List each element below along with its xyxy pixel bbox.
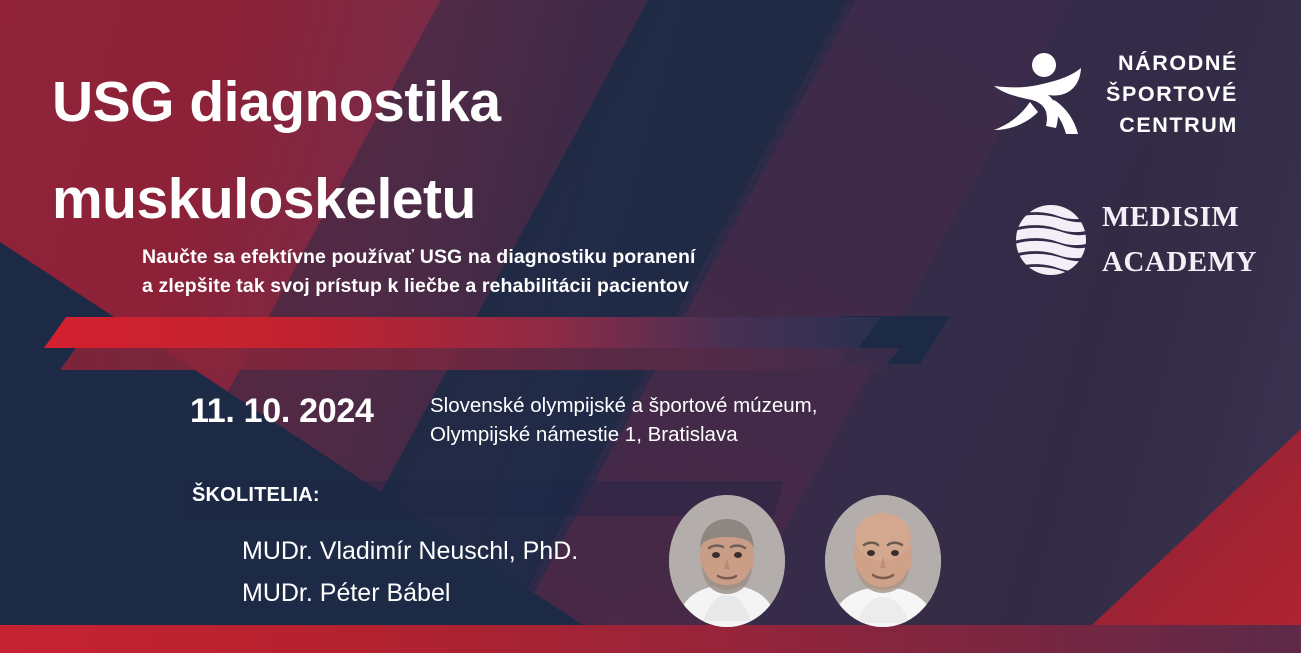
logo-medisim-text: MEDISIM ACADEMY [1102,195,1257,285]
lecturer-1: MUDr. Vladimír Neuschl, PhD. [242,530,702,572]
subtitle: Naučte sa efektívne používať USG na diag… [142,243,842,301]
title-line-2: muskuloskeletu [52,151,672,248]
venue-line-1: Slovenské olympijské a športové múzeum, [430,391,900,420]
bottom-red-bar [0,625,1301,653]
lecturer-2: MUDr. Péter Bábel [242,572,702,614]
logo-narodne-sportove-centrum: NÁRODNÉ ŠPORTOVÉ CENTRUM [986,42,1236,146]
event-poster: USG diagnostika muskuloskeletu Naučte sa… [0,0,1301,653]
page-title: USG diagnostika muskuloskeletu [52,54,672,248]
event-date: 11. 10. 2024 [190,392,374,431]
portrait-vladimir-neuschl [669,495,785,627]
subtitle-line-2: a zlepšite tak svoj prístup k liečbe a r… [142,272,842,301]
portrait-peter-babel [825,495,941,627]
subtitle-line-1: Naučte sa efektívne používať USG na diag… [142,243,842,272]
accent-band-red [44,317,882,348]
title-line-1: USG diagnostika [52,54,672,151]
medisim-line-1: MEDISIM [1102,195,1257,240]
accent-band-shadow [60,348,900,370]
nsc-line-3: CENTRUM [1106,110,1238,141]
striped-globe-icon [1010,196,1092,284]
medisim-line-2: ACADEMY [1102,240,1257,285]
nsc-line-2: ŠPORTOVÉ [1106,79,1238,110]
venue-line-2: Olympijské námestie 1, Bratislava [430,420,900,449]
nsc-line-1: NÁRODNÉ [1106,48,1238,79]
event-venue: Slovenské olympijské a športové múzeum, … [430,391,900,449]
logo-medisim-academy: MEDISIM ACADEMY [1010,193,1238,287]
lecturers-label: ŠKOLITELIA: [192,484,320,507]
lecturers-list: MUDr. Vladimír Neuschl, PhD. MUDr. Péter… [242,530,702,614]
logo-nsc-text: NÁRODNÉ ŠPORTOVÉ CENTRUM [1106,48,1238,141]
running-figure-icon [986,48,1094,140]
